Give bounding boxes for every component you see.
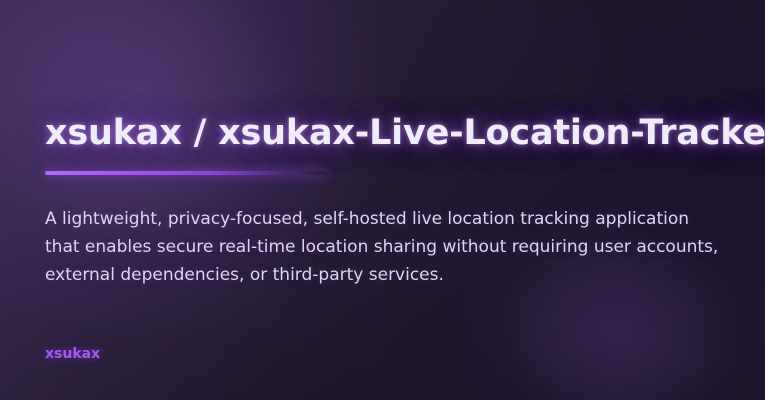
title-divider (45, 171, 327, 175)
card-content: xsukax / xsukax-Live-Location-Tracker A … (0, 0, 765, 400)
repository-title: xsukax / xsukax-Live-Location-Tracker (45, 113, 765, 153)
social-preview-card: xsukax / xsukax-Live-Location-Tracker A … (0, 0, 765, 400)
description-line: external dependencies, or third-party se… (45, 261, 700, 289)
owner-handle: xsukax (45, 346, 100, 362)
description-line: A lightweight, privacy-focused, self-hos… (45, 205, 700, 233)
description-line: that enables secure real-time location s… (45, 233, 700, 261)
repository-description: A lightweight, privacy-focused, self-hos… (45, 205, 700, 289)
